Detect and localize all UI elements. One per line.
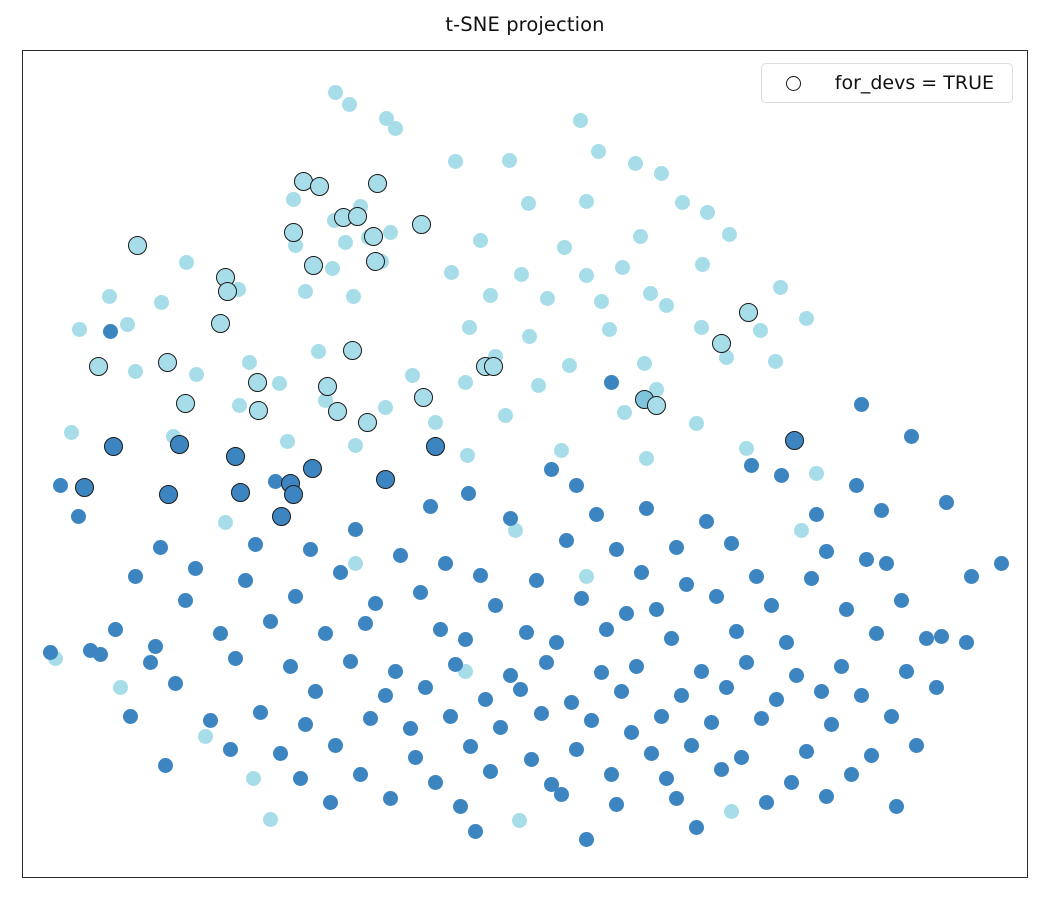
scatter-point [531,378,546,393]
scatter-point [93,647,108,662]
scatter-point [358,616,373,631]
scatter-point [453,799,468,814]
scatter-point [242,355,257,370]
scatter-point [799,311,814,326]
scatter-point [458,632,473,647]
scatter-point [363,711,378,726]
scatter-point [764,598,779,613]
scatter-point-highlighted [348,207,367,226]
scatter-point [253,705,268,720]
scatter-point [604,375,619,390]
scatter-point-highlighted [176,394,195,413]
scatter-point-highlighted [785,431,804,450]
scatter-point [123,709,138,724]
scatter-point [704,715,719,730]
scatter-point [768,354,783,369]
scatter-point [579,268,594,283]
page-title: t-SNE projection [0,13,1050,36]
scatter-point [584,713,599,728]
scatter-point-highlighted [249,401,268,420]
scatter-point [724,536,739,551]
scatter-point [148,639,163,654]
scatter-point [629,659,644,674]
scatter-point [619,606,634,621]
scatter-point [333,565,348,580]
scatter-point [609,797,624,812]
scatter-point [809,507,824,522]
scatter-point [388,121,403,136]
scatter-point [839,602,854,617]
scatter-point-highlighted [303,459,322,478]
scatter-point [624,725,639,740]
scatter-point [311,344,326,359]
scatter-point [724,804,739,819]
scatter-point [534,706,549,721]
scatter-point [649,602,664,617]
scatter-point [659,771,674,786]
scatter-point [879,556,894,571]
scatter-point [113,680,128,695]
scatter-point [128,364,143,379]
scatter-point [854,688,869,703]
scatter-point [894,593,909,608]
scatter-point-highlighted [75,478,94,497]
scatter-point [694,320,709,335]
scatter-point [388,664,403,679]
scatter-point [739,655,754,670]
scatter-point [348,556,363,571]
scatter-point [448,154,463,169]
scatter-point [368,596,383,611]
scatter-point [749,569,764,584]
scatter-point-highlighted [426,437,445,456]
scatter-point-highlighted [310,177,329,196]
scatter-point [539,655,554,670]
scatter-point-highlighted [159,485,178,504]
scatter-point [774,468,789,483]
scatter-point [153,540,168,555]
scatter-point-highlighted [226,447,245,466]
scatter-point [272,376,287,391]
scatter-point [579,569,594,584]
scatter-point [108,622,123,637]
scatter-point [189,367,204,382]
scatter-point [328,738,343,753]
scatter-point [323,795,338,810]
scatter-point [353,767,368,782]
scatter-point-highlighted [364,227,383,246]
scatter-point-highlighted [484,357,503,376]
scatter-point [288,589,303,604]
scatter-point [719,680,734,695]
scatter-point [753,323,768,338]
scatter-point [64,425,79,440]
scatter-point [637,356,652,371]
scatter-point [513,682,528,697]
scatter-point [293,771,308,786]
scatter-point [228,651,243,666]
scatter-point [461,486,476,501]
scatter-point [675,195,690,210]
scatter-point-highlighted [284,485,303,504]
scatter-point [599,622,614,637]
scatter-point-highlighted [304,256,323,275]
scatter-point [393,548,408,563]
scatter-point [549,635,564,650]
scatter-point [503,668,518,683]
scatter-point [659,298,674,313]
legend[interactable]: for_devs = TRUE [761,63,1013,103]
scatter-point-highlighted [89,357,108,376]
scatter-point [799,744,814,759]
scatter-point [904,429,919,444]
scatter-point [462,320,477,335]
scatter-point [824,717,839,732]
scatter-point-highlighted [739,303,758,322]
scatter-point [463,739,478,754]
scatter-point [488,598,503,613]
scatter-point [699,514,714,529]
scatter-point [280,434,295,449]
scatter-point-highlighted [104,437,123,456]
scatter-point [633,229,648,244]
scatter-point [859,552,874,567]
scatter-point [579,832,594,847]
scatter-point [283,659,298,674]
scatter-point [378,400,393,415]
scatter-point [809,466,824,481]
scatter-point [338,235,353,250]
scatter-point [383,791,398,806]
scatter-point [554,787,569,802]
scatter-point [308,684,323,699]
scatter-point [178,593,193,608]
scatter-point [759,795,774,810]
scatter-point [342,97,357,112]
scatter-point-highlighted [318,377,337,396]
scatter-point [540,291,555,306]
scatter-point-highlighted [231,483,250,502]
scatter-point [909,738,924,753]
scatter-point [103,324,118,339]
scatter-point [919,631,934,646]
scatter-point [674,688,689,703]
scatter-point [569,478,584,493]
scatter-point [403,721,418,736]
scatter-point [428,775,443,790]
scatter-point [654,709,669,724]
scatter-point [739,441,754,456]
scatter-point [521,196,536,211]
scatter-point [120,317,135,332]
scatter-point [579,194,594,209]
scatter-point [929,680,944,695]
scatter-point [934,629,949,644]
scatter-point [343,654,358,669]
scatter-point [669,540,684,555]
scatter-point [413,585,428,600]
scatter-point [522,329,537,344]
scatter-point [644,746,659,761]
scatter-point-highlighted [128,236,147,255]
scatter-point [714,762,729,777]
scatter-point [899,664,914,679]
scatter-point [773,280,788,295]
scatter-point [594,665,609,680]
legend-entry-label: for_devs = TRUE [835,72,998,94]
scatter-point [744,458,759,473]
scatter-point [554,443,569,458]
scatter-point [179,255,194,270]
scatter-point [502,153,517,168]
scatter-point [408,750,423,765]
scatter-point [874,503,889,518]
scatter-point [669,791,684,806]
scatter-point [559,533,574,548]
scatter-point [694,664,709,679]
scatter-point [519,625,534,640]
scatter-point [729,624,744,639]
scatter-point [438,556,453,571]
scatter-point [849,478,864,493]
scatter-point [514,267,529,282]
scatter-point [143,655,158,670]
scatter-point [348,438,363,453]
scatter-point [303,542,318,557]
scatter-point [695,257,710,272]
scatter-point [819,544,834,559]
scatter-point [994,556,1009,571]
scatter-point [589,507,604,522]
scatter-point [722,227,737,242]
scatter-point [959,635,974,650]
scatter-point [383,225,398,240]
scatter-point [700,205,715,220]
scatter-point [198,729,213,744]
scatter-point [248,537,263,552]
scatter-point [574,591,589,606]
scatter-point [569,742,584,757]
scatter-point [512,813,527,828]
scatter-point [286,192,301,207]
scatter-point [405,368,420,383]
scatter-point [884,709,899,724]
scatter-point [864,748,879,763]
scatter-point [854,397,869,412]
scatter-point [594,294,609,309]
scatter-point-highlighted [248,373,267,392]
scatter-point [346,289,361,304]
scatter-point [814,684,829,699]
plot-area[interactable]: for_devs = TRUE [22,50,1028,878]
scatter-point [639,501,654,516]
scatter-point-highlighted [158,353,177,372]
scatter-point [418,680,433,695]
scatter-point [318,626,333,641]
scatter-point [819,789,834,804]
scatter-point [784,775,799,790]
scatter-point [423,499,438,514]
scatter-point [478,692,493,707]
scatter-point [328,85,343,100]
scatter-point [557,240,572,255]
scatter-point [325,261,340,276]
scatter-point [158,758,173,773]
scatter-point [273,746,288,761]
scatter-point [232,398,247,413]
scatter-point-highlighted [412,215,431,234]
scatter-point [128,569,143,584]
scatter-point [524,752,539,767]
scatter-point [679,577,694,592]
scatter-point [562,358,577,373]
scatter-point [564,695,579,710]
scatter-point [428,415,443,430]
scatter-point [964,569,979,584]
scatter-point [223,742,238,757]
scatter-point [804,571,819,586]
scatter-point [433,622,448,637]
scatter-point [263,812,278,827]
scatter-point [298,284,313,299]
figure-canvas: t-SNE projection for_devs = TRUE [0,0,1050,900]
scatter-point [617,405,632,420]
scatter-point [43,645,58,660]
scatter-point [348,522,363,537]
scatter-point [460,448,475,463]
scatter-point [473,568,488,583]
scatter-point-highlighted [218,282,237,301]
scatter-point [734,750,749,765]
scatter-point [769,692,784,707]
scatter-point [889,799,904,814]
scatter-point [493,720,508,735]
scatter-point [615,260,630,275]
scatter-point [213,626,228,641]
scatter-point [154,295,169,310]
scatter-point-highlighted [414,388,433,407]
scatter-point [203,713,218,728]
scatter-point [591,144,606,159]
scatter-point [102,289,117,304]
scatter-point-highlighted [170,435,189,454]
scatter-point [779,635,794,650]
scatter-point [614,684,629,699]
scatter-point [684,738,699,753]
scatter-point [789,668,804,683]
scatter-point [869,626,884,641]
scatter-point [468,824,483,839]
scatter-point [168,676,183,691]
scatter-point [754,711,769,726]
scatter-points-layer [23,51,1027,877]
scatter-point [573,113,588,128]
scatter-point [458,375,473,390]
scatter-point [443,709,458,724]
scatter-point [71,509,86,524]
scatter-point [246,771,261,786]
scatter-point [483,764,498,779]
scatter-point [544,462,559,477]
scatter-point [53,478,68,493]
scatter-point [444,265,459,280]
scatter-point-highlighted [368,174,387,193]
open-circle-icon [786,76,801,91]
scatter-point-highlighted [647,396,666,415]
scatter-point-highlighted [343,341,362,360]
scatter-point [654,166,669,181]
scatter-point [939,495,954,510]
scatter-point [634,565,649,580]
scatter-point [643,286,658,301]
scatter-point [238,573,253,588]
scatter-point-highlighted [376,470,395,489]
scatter-point [602,322,617,337]
scatter-point [188,561,203,576]
scatter-point [628,156,643,171]
scatter-point [72,322,87,337]
scatter-point [834,659,849,674]
scatter-point [529,573,544,588]
scatter-point [263,614,278,629]
scatter-point [794,523,809,538]
scatter-point [664,631,679,646]
scatter-point-highlighted [211,314,230,333]
scatter-point [483,288,498,303]
scatter-point [218,515,233,530]
scatter-point [639,451,654,466]
scatter-point [844,767,859,782]
scatter-point-highlighted [328,402,347,421]
scatter-point [689,416,704,431]
scatter-point-highlighted [272,507,291,526]
scatter-point [609,542,624,557]
scatter-point [709,589,724,604]
scatter-point [689,820,704,835]
scatter-point [498,408,513,423]
scatter-point [298,717,313,732]
scatter-point [604,767,619,782]
scatter-point [473,233,488,248]
scatter-point-highlighted [358,413,377,432]
scatter-point [378,688,393,703]
